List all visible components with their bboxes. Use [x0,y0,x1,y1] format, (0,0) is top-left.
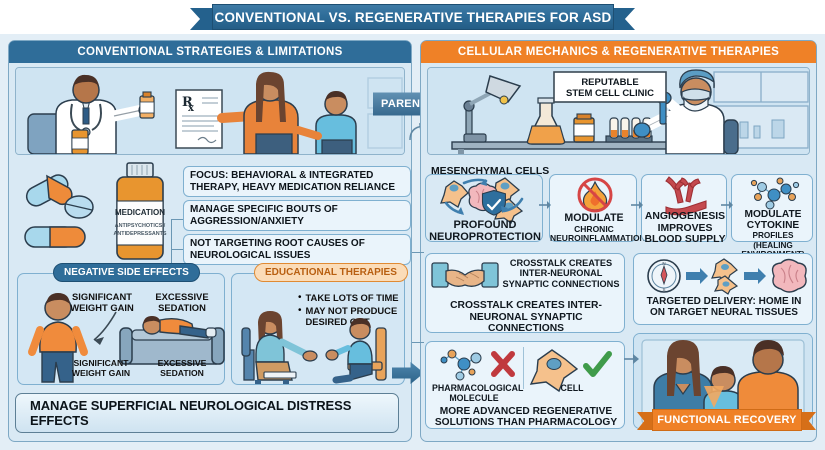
ribbon-tail-left-icon [190,8,214,30]
crosstalk-inbound-line [412,252,424,253]
mechanism-sub-neuroinflammation: CHRONIC NEUROINFLAMMATION [550,225,638,244]
mechanism-title-angiogenesis: ANGIOGENESIS IMPROVES BLOOD SUPPLY [642,211,728,246]
compass-icon: N S [648,260,680,292]
svg-text:N: N [662,261,665,266]
infographic-root: CONVENTIONAL VS. REGENERATIVE THERAPIES … [0,0,825,450]
svg-text:REPUTABLE: REPUTABLE [581,77,638,88]
svg-text:ANTIDEPRESSANTS: ANTIDEPRESSANTS [113,231,166,237]
bullet-text-manage: MANAGE SPECIFIC BOUTS OF AGGRESSION/ANXI… [190,204,404,227]
stem-cell-lab-illustration: REPUTABLE STEM CELL CLINIC [427,67,810,155]
blood-vessel-icon [662,177,710,211]
regenerative-panel: CELLULAR MECHANICS & REGENERATIVE THERAP… [420,40,817,442]
banner-ribbon: CONVENTIONAL VS. REGENERATIVE THERAPIES … [212,4,614,30]
comparison-card: PHARMACOLOGICAL MOLECULE CELL MORE ADVAN… [425,341,625,429]
cell-icon [530,346,614,382]
no-flame-icon [574,178,616,212]
mechanism-title-modulate: MODULATE [550,213,638,225]
mechanism-title-neuroprotection: PROFOUND NEUROPROTECTION [426,219,544,244]
bracket-line [171,219,183,220]
conventional-panel-header: CONVENTIONAL STRATEGIES & LIMITATIONS [9,41,411,63]
brain-icon [773,260,807,293]
mechanism-connector-arrow-1 [539,199,551,211]
bullet-box-root-causes: NOT TARGETING ROOT CAUSES OF NEUROLOGICA… [183,234,411,265]
regenerative-panel-title: CELLULAR MECHANICS & REGENERATIVE THERAP… [458,46,779,58]
negative-side-effects-badge: NEGATIVE SIDE EFFECTS [53,263,200,282]
targeted-delivery-text: TARGETED DELIVERY: HOME IN ON TARGET NEU… [638,296,810,319]
mechanism-card-neuroprotection: PROFOUND NEUROPROTECTION [425,174,543,242]
bullet-box-focus: FOCUS: BEHAVIORAL & INTEGRATED THERAPY, … [183,166,411,197]
manage-superficial-bar: MANAGE SUPERFICIAL NEUROLOGICAL DISTRESS… [15,393,399,433]
educational-bullet-1: TAKE LOTS OF TIME [306,292,399,303]
medication-bottle-illustration: MEDICATION ANTIPSYCHOTICS / ANTIDEPRESSA… [109,163,171,261]
crosstalk-card: CROSSTALK CREATES INTER-NEURONAL SYNAPTI… [425,253,625,333]
comparison-caption: MORE ADVANCED REGENERATIVE SOLUTIONS THA… [426,406,626,429]
negative-side-effects-label: NEGATIVE SIDE EFFECTS [64,267,189,278]
comparison-right-label: CELL [530,384,614,394]
doctor-family-illustration: R x [15,67,405,155]
crosstalk-inner-text: CROSSTALK CREATES INTER-NEURONAL SYNAPTI… [500,258,622,289]
functional-recovery-ribbon: FUNCTIONAL RECOVERY [652,409,802,431]
bullet-dot-icon: • [298,292,302,303]
functional-recovery-label: FUNCTIONAL RECOVERY [657,414,796,426]
conventional-panel: CONVENTIONAL STRATEGIES & LIMITATIONS [8,40,412,442]
mechanism-card-neuroinflammation: MODULATE CHRONIC NEUROINFLAMMATION [549,174,637,242]
svg-text:MEDICATION: MEDICATION [115,208,165,217]
manage-superficial-text: MANAGE SUPERFICIAL NEUROLOGICAL DISTRESS… [30,398,398,428]
top-banner: CONVENTIONAL VS. REGENERATIVE THERAPIES … [0,0,825,34]
down-chevron-icon [700,386,728,410]
svg-text:STEM CELL CLINIC: STEM CELL CLINIC [566,88,654,99]
svg-text:S: S [662,287,665,292]
check-mark-icon [586,354,609,374]
pharmacological-molecule-icon [436,346,520,382]
educational-therapies-group: • TAKE LOTS OF TIME • MAY NOT PRODUCE DE… [231,273,405,385]
side-effect-top-label-sedation: EXCESSIVE SEDATION [144,292,220,313]
molecule-cluster-icon [748,177,800,209]
mechanism-connector-arrow-2 [631,199,643,211]
mechanism-card-angiogenesis: ANGIOGENESIS IMPROVES BLOOD SUPPLY [641,174,727,242]
pills-illustration [23,169,109,255]
bullet-box-manage: MANAGE SPECIFIC BOUTS OF AGGRESSION/ANXI… [183,200,411,231]
mechanism-card-cytokine: MODULATE CYTOKINE PROFILES (HEALING ENVI… [731,174,813,242]
comparison-inbound-line [412,342,424,343]
banner-title: CONVENTIONAL VS. REGENERATIVE THERAPIES … [215,10,612,25]
svg-text:x: x [188,103,195,114]
educational-therapies-label: EDUCATIONAL THERAPIES [265,267,397,278]
mechanism-title-cytokine: MODULATE CYTOKINE [732,209,814,231]
bullet-text-root-causes: NOT TARGETING ROOT CAUSES OF NEUROLOGICA… [190,238,404,261]
cross-mark-icon [494,354,512,374]
regenerative-panel-header: CELLULAR MECHANICS & REGENERATIVE THERAP… [421,41,816,63]
stem-cells-brain-shield-icon [434,177,538,219]
mechanism-connector-arrow-3 [721,199,733,211]
ribbon-tail-right-icon [611,8,635,30]
recovery-connector-arrow [624,352,640,366]
targeted-delivery-card: N S [633,253,813,325]
comparison-divider [523,347,524,389]
side-effect-top-label-weight: SIGNIFICANT WEIGHT GAIN [64,292,140,313]
handshake-icon [432,259,498,293]
comparison-left-label: PHARMACOLOGICAL MOLECULE [432,384,516,404]
bullet-text-focus: FOCUS: BEHAVIORAL & INTEGRATED THERAPY, … [190,170,404,193]
svg-text:ANTIPSYCHOTICS /: ANTIPSYCHOTICS / [115,223,166,229]
crosstalk-outer-text: CROSSTALK CREATES INTER-NEURONAL SYNAPTI… [430,300,622,335]
conventional-panel-title: CONVENTIONAL STRATEGIES & LIMITATIONS [77,46,342,58]
side-effect-bottom-label-sedation: EXCESSIVE SEDATION [144,359,220,378]
educational-therapies-badge: EDUCATIONAL THERAPIES [254,263,408,282]
negative-side-effects-group: SIGNIFICANT WEIGHT GAIN EXCESSIVE SEDATI… [17,273,225,385]
side-effect-bottom-label-weight: SIGNIFICANT WEIGHT GAIN [62,359,140,378]
bracket-line [171,249,183,250]
